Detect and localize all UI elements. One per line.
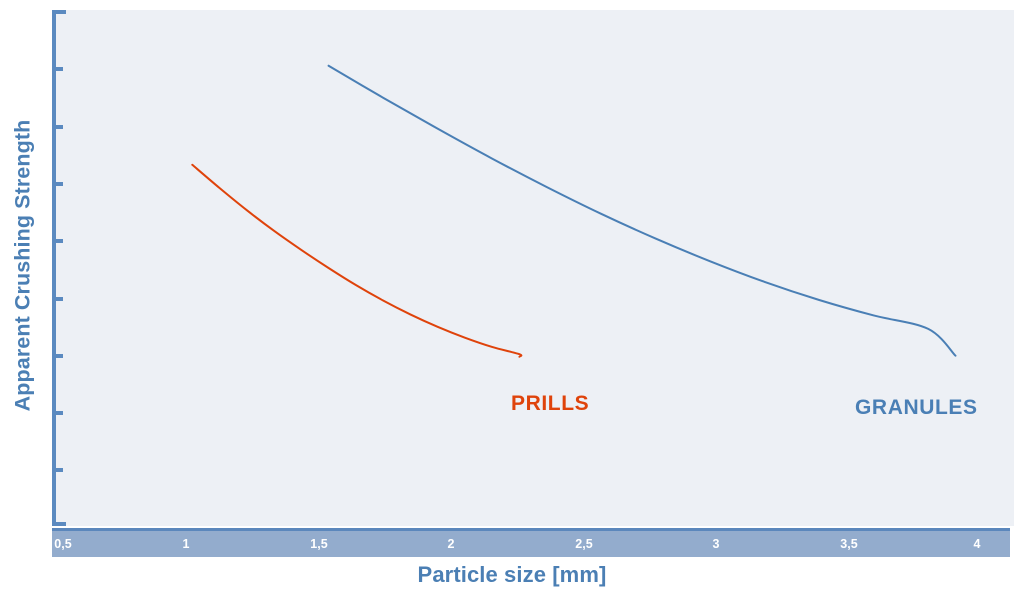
x-axis-tick-label: 3 xyxy=(713,531,720,557)
x-axis-tick-label: 2,5 xyxy=(575,531,592,557)
chart-container: Apparent Crushing Strength PRILLS GRANUL… xyxy=(0,0,1024,600)
y-axis-tick xyxy=(52,182,63,186)
y-axis-tick xyxy=(52,10,63,14)
x-axis-tick-label: 1,5 xyxy=(310,531,327,557)
x-axis-tick-label: 1 xyxy=(183,531,190,557)
x-axis-band: 0,511,522,533,54 xyxy=(52,528,1010,557)
y-axis-tick xyxy=(52,297,63,301)
x-axis-tick-label: 2 xyxy=(448,531,455,557)
y-axis-tick xyxy=(52,125,63,129)
y-axis-bottom-cap xyxy=(52,522,66,526)
y-axis-tick xyxy=(52,468,63,472)
x-axis-title: Particle size [mm] xyxy=(0,562,1024,588)
series-label-granules: GRANULES xyxy=(855,396,978,420)
y-axis-tick xyxy=(52,354,63,358)
y-axis-title: Apparent Crushing Strength xyxy=(0,0,46,530)
x-axis-tick-label: 0,5 xyxy=(54,531,71,557)
series-label-prills: PRILLS xyxy=(511,392,589,416)
y-axis-tick xyxy=(52,67,63,71)
x-axis-tick-label: 3,5 xyxy=(840,531,857,557)
plot-area xyxy=(52,10,1014,526)
y-axis-title-text: Apparent Crushing Strength xyxy=(11,119,36,411)
x-axis-tick-label: 4 xyxy=(974,531,981,557)
y-axis-tick xyxy=(52,411,63,415)
y-axis-tick xyxy=(52,239,63,243)
